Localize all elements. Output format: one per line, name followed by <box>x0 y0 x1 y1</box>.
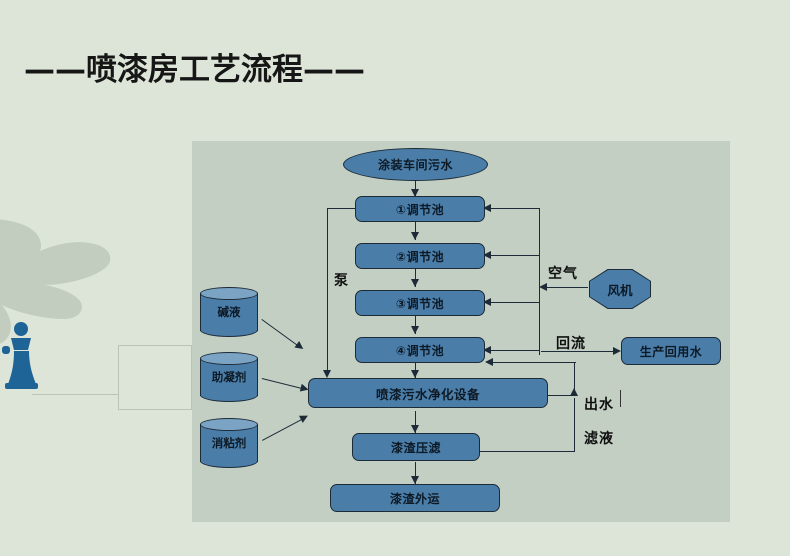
hand-silhouette-icon <box>0 215 120 365</box>
slide-canvas: ——喷漆房工艺流程—— <box>0 0 790 556</box>
arrowhead-effluent-up <box>570 388 578 396</box>
label-effluent: 出水 <box>584 394 614 414</box>
arrowhead-blower-air <box>539 283 547 291</box>
edge-effluent-to-tank4 <box>489 362 576 363</box>
arrowhead-tank2-to-tank3 <box>411 279 419 287</box>
node-tank-4[interactable]: ④调节池 <box>355 337 485 363</box>
edge-filtrate-from-press <box>480 451 575 452</box>
node-label: ①调节池 <box>396 201 444 218</box>
node-label: 漆渣压滤 <box>391 439 441 456</box>
arrowhead-treatment-to-press <box>411 425 419 433</box>
node-label: 涂装车间污水 <box>378 156 453 173</box>
label-pump: 泵 <box>334 270 349 290</box>
edge-filtrate-riser <box>574 398 575 452</box>
page-title: ——喷漆房工艺流程—— <box>24 44 365 89</box>
edge-pump-vertical <box>327 208 328 376</box>
node-source-wastewater[interactable]: 涂装车间污水 <box>343 148 488 181</box>
label-return-flow: 回流 <box>556 333 586 353</box>
node-label: 漆渣外运 <box>390 490 440 507</box>
arrowhead-return-flow <box>613 347 621 355</box>
arrowhead-tank4-to-treatment <box>411 370 419 378</box>
edge-air-to-tank1 <box>486 208 540 209</box>
node-label: 消粘剂 <box>200 424 258 462</box>
label-air: 空气 <box>548 263 578 283</box>
node-sludge-disposal[interactable]: 漆渣外运 <box>330 484 500 512</box>
node-dosing-coagulant-aid[interactable]: 助凝剂 <box>200 352 258 402</box>
node-tank-2[interactable]: ②调节池 <box>355 243 485 269</box>
node-dosing-alkali[interactable]: 碱液 <box>200 287 258 337</box>
edge-air-to-tank3 <box>486 302 540 303</box>
arrowhead-press-to-disposal <box>411 476 419 484</box>
arrowhead-tank1-to-tank2 <box>411 232 419 240</box>
node-label: 喷漆污水净化设备 <box>376 384 480 403</box>
node-label: 风机 <box>607 280 632 299</box>
edge-pump-horizontal <box>327 208 357 209</box>
node-label: 碱液 <box>200 293 258 331</box>
edge-air-riser <box>539 208 540 355</box>
edge-air-to-tank2 <box>486 255 540 256</box>
arrowhead-effluent-to-tank4 <box>485 358 493 366</box>
label-filtrate: 滤液 <box>584 428 614 448</box>
node-tank-3[interactable]: ③调节池 <box>355 290 485 316</box>
decorative-connector-line <box>32 394 119 395</box>
node-dosing-detackifier[interactable]: 消粘剂 <box>200 418 258 468</box>
arrowhead-pump-to-treatment <box>323 370 331 378</box>
decorative-frame <box>118 345 192 410</box>
node-label: 助凝剂 <box>200 358 258 396</box>
edge-blower-to-air-riser <box>544 287 588 288</box>
node-label: ②调节池 <box>396 248 444 265</box>
node-treatment-equipment[interactable]: 喷漆污水净化设备 <box>308 378 548 408</box>
text-caret <box>620 390 621 407</box>
node-label: ③调节池 <box>396 295 444 312</box>
node-sludge-press[interactable]: 漆渣压滤 <box>352 433 480 461</box>
node-label: ④调节池 <box>396 342 444 359</box>
node-tank-1[interactable]: ①调节池 <box>355 196 485 222</box>
chess-piece-icon <box>2 320 44 390</box>
node-label: 生产回用水 <box>640 343 703 360</box>
edge-air-to-tank4 <box>486 350 540 351</box>
arrowhead-tank3-to-tank4 <box>411 326 419 334</box>
node-reuse-water[interactable]: 生产回用水 <box>621 337 721 365</box>
node-blower[interactable]: 风机 <box>590 270 650 308</box>
